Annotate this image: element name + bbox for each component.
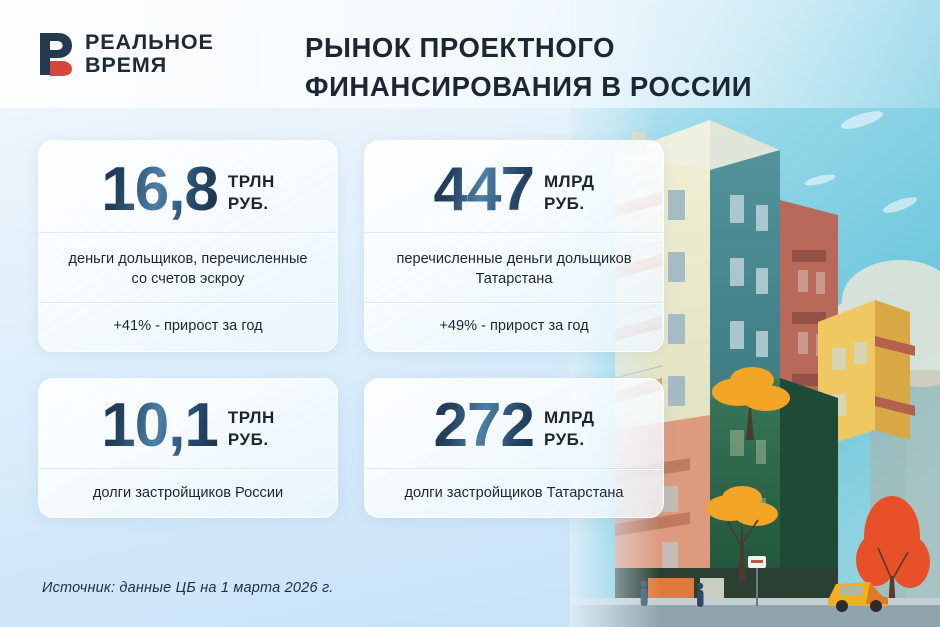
stat-growth: +49% - прирост за год <box>365 304 663 334</box>
page-title-line2: ФИНАНСИРОВАНИЯ В РОССИИ <box>305 67 775 106</box>
brand-name-line2: ВРЕМЯ <box>85 54 214 77</box>
stat-value-row: 10,1 ТРЛН РУБ. <box>39 379 337 469</box>
stat-value-row: 16,8 ТРЛН РУБ. <box>39 141 337 233</box>
page-title-line1: РЫНОК ПРОЕКТНОГО <box>305 28 775 67</box>
brand-wordmark: РЕАЛЬНОЕ ВРЕМЯ <box>85 31 214 76</box>
stat-card-debt-russia: 10,1 ТРЛН РУБ. долги застройщиков России <box>38 378 338 518</box>
stat-unit: ТРЛН РУБ. <box>228 401 275 451</box>
header: РЕАЛЬНОЕ ВРЕМЯ РЫНОК ПРОЕКТНОГО ФИНАНСИР… <box>0 0 940 108</box>
stat-value: 10,1 <box>101 395 218 457</box>
stat-card-escrow-tatarstan: 447 МЛРД РУБ. перечисленные деньги дольщ… <box>364 140 664 352</box>
stat-unit: МЛРД РУБ. <box>544 401 594 451</box>
stat-description: долги застройщиков Татарстана <box>365 470 663 516</box>
page-title: РЫНОК ПРОЕКТНОГО ФИНАНСИРОВАНИЯ В РОССИИ <box>305 28 775 106</box>
stat-value: 272 <box>434 395 534 457</box>
infographic-root: РЕАЛЬНОЕ ВРЕМЯ РЫНОК ПРОЕКТНОГО ФИНАНСИР… <box>0 0 940 627</box>
stat-value-row: 447 МЛРД РУБ. <box>365 141 663 233</box>
stat-unit-line2: РУБ. <box>228 194 269 213</box>
brand-logo[interactable]: РЕАЛЬНОЕ ВРЕМЯ <box>38 31 214 77</box>
stat-growth: +41% - прирост за год <box>39 304 337 334</box>
stat-value: 16,8 <box>101 159 218 221</box>
stat-value-row: 272 МЛРД РУБ. <box>365 379 663 469</box>
stat-unit: МЛРД РУБ. <box>544 165 594 215</box>
stat-unit-line1: ТРЛН <box>228 172 275 191</box>
brand-name-line1: РЕАЛЬНОЕ <box>85 31 214 54</box>
stat-description: перечисленные деньги дольщиков Татарстан… <box>365 234 663 303</box>
stat-unit-line1: МЛРД <box>544 172 594 191</box>
stat-description: деньги дольщиков, перечисленные со счето… <box>39 234 337 303</box>
stat-description: долги застройщиков России <box>39 470 337 516</box>
stat-card-debt-tatarstan: 272 МЛРД РУБ. долги застройщиков Татарст… <box>364 378 664 518</box>
stat-unit-line2: РУБ. <box>228 430 269 449</box>
stat-card-escrow-russia: 16,8 ТРЛН РУБ. деньги дольщиков, перечис… <box>38 140 338 352</box>
stat-value: 447 <box>434 159 534 221</box>
real-time-logo-mark-icon <box>38 31 74 77</box>
stat-unit: ТРЛН РУБ. <box>228 165 275 215</box>
header-divider <box>262 29 264 95</box>
stat-unit-line2: РУБ. <box>544 194 585 213</box>
stat-unit-line1: МЛРД <box>544 408 594 427</box>
source-note: Источник: данные ЦБ на 1 марта 2026 г. <box>42 580 334 596</box>
stat-unit-line1: ТРЛН <box>228 408 275 427</box>
stat-unit-line2: РУБ. <box>544 430 585 449</box>
